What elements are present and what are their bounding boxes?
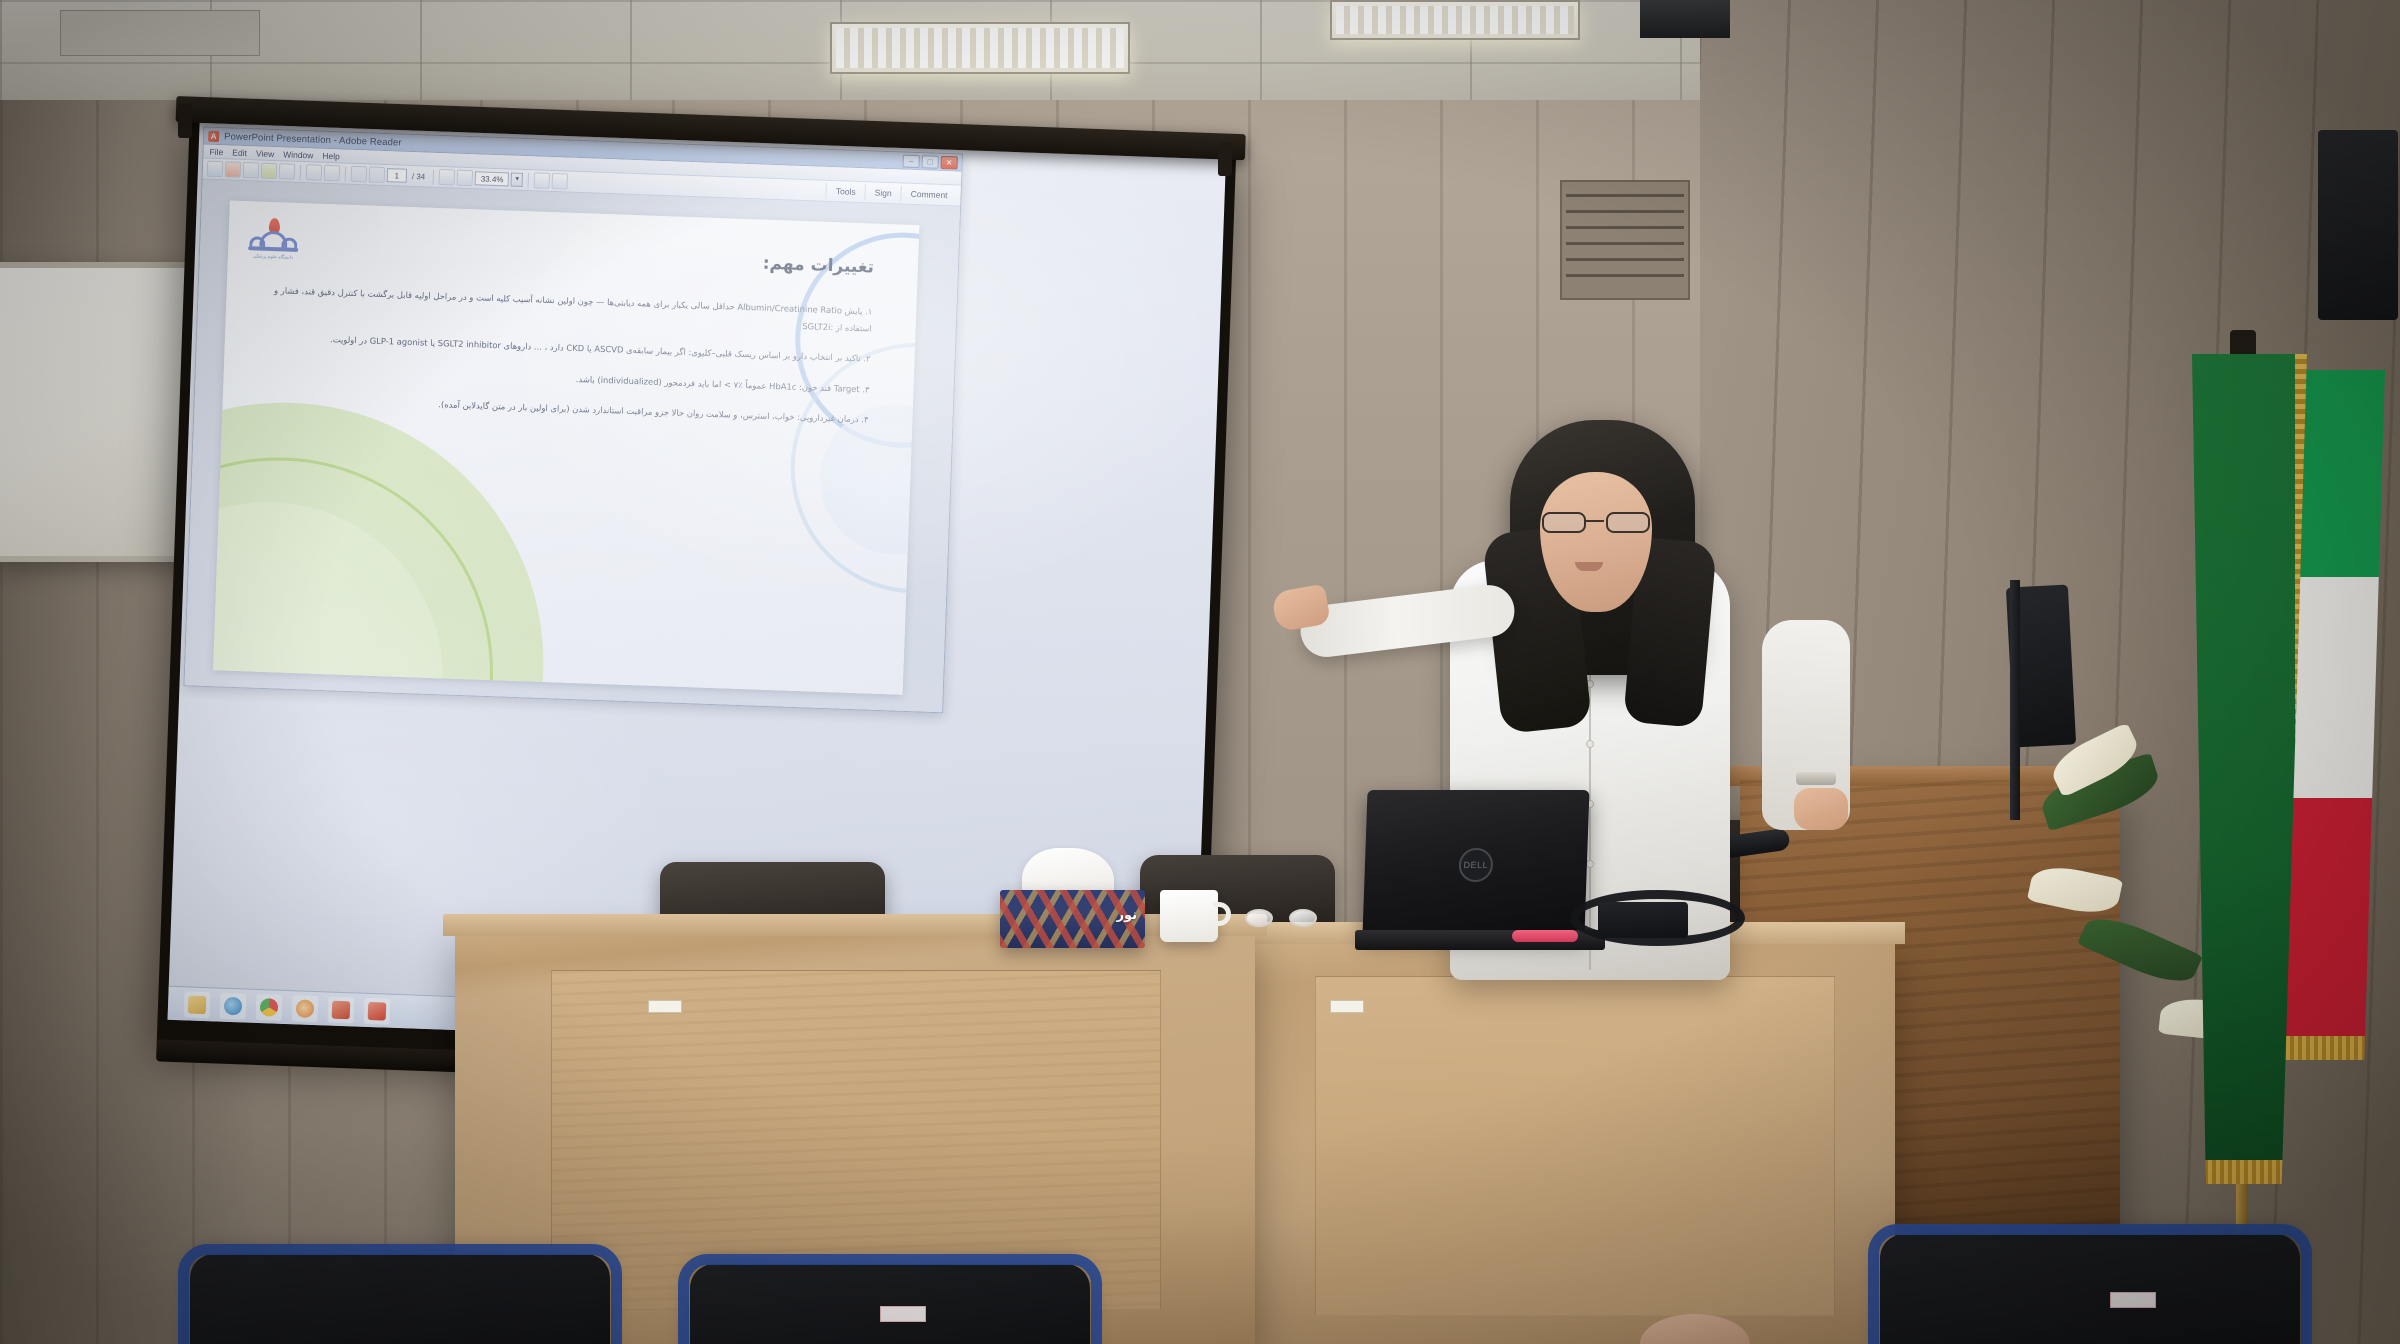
menu-item-file[interactable]: File — [209, 146, 223, 156]
tissue-brand-label: نور — [1116, 908, 1137, 923]
menu-item-window[interactable]: Window — [283, 149, 314, 160]
dell-logo: DELL — [1458, 848, 1493, 882]
ceiling-light-2 — [1330, 0, 1580, 40]
menu-item-edit[interactable]: Edit — [232, 147, 247, 158]
zoom-level-input[interactable]: 33.4% — [475, 171, 509, 186]
media-player-icon[interactable] — [292, 995, 319, 1022]
whiteboard — [0, 262, 205, 562]
laptop-lid: DELL — [1362, 790, 1589, 935]
audience-chair-center — [690, 1264, 1090, 1344]
slide-point-1: ۱. پایش Albumin/Creatinine Ratio حداقل س… — [270, 282, 873, 338]
lily-flower — [2027, 861, 2123, 919]
adobe-reader-window[interactable]: PowerPoint Presentation - Adobe Reader –… — [183, 126, 963, 713]
sign-button[interactable]: Sign — [864, 184, 901, 201]
google-chrome-icon[interactable] — [256, 993, 283, 1020]
chevron-down-icon[interactable]: ▾ — [511, 173, 523, 187]
presenter-eyeglasses — [1542, 512, 1650, 534]
page-view-icon[interactable] — [324, 165, 341, 182]
flag-group — [2130, 330, 2400, 1230]
adobe-reader-icon-taskbar[interactable] — [364, 997, 391, 1024]
window-controls[interactable]: – □ ✕ — [902, 154, 957, 169]
conference-room-scene: PowerPoint Presentation - Adobe Reader –… — [0, 0, 2400, 1344]
slide-title: تغییرات مهم: — [272, 236, 874, 278]
maximize-button[interactable]: □ — [921, 155, 938, 169]
minimize-button[interactable]: – — [902, 154, 919, 168]
file-explorer-icon[interactable] — [184, 991, 211, 1018]
toolbar-right-group[interactable]: Tools Sign Comment — [826, 183, 957, 204]
presenter-wristwatch — [1796, 772, 1836, 785]
previous-page-icon[interactable] — [351, 166, 368, 183]
front-desk-label — [648, 1000, 682, 1013]
internet-explorer-icon[interactable] — [220, 992, 247, 1019]
presenter-right-hand — [1794, 788, 1848, 830]
page-total-label: / 34 — [409, 171, 429, 181]
open-file-icon[interactable] — [207, 161, 224, 178]
ceiling-light-1 — [830, 22, 1130, 74]
zoom-in-icon[interactable] — [457, 170, 474, 187]
zoom-out-icon[interactable] — [439, 169, 456, 186]
comment-button[interactable]: Comment — [900, 185, 956, 203]
adobe-reader-icon — [208, 130, 219, 141]
menu-item-help[interactable]: Help — [322, 150, 340, 161]
fit-page-icon[interactable] — [534, 172, 551, 189]
undo-icon[interactable] — [279, 163, 296, 180]
wall-vent — [1560, 180, 1690, 300]
audience-chair-tag-left — [880, 1306, 926, 1322]
email-icon[interactable] — [261, 163, 278, 180]
red-desk-item — [1512, 930, 1578, 942]
audience-chair-left — [190, 1254, 610, 1344]
dell-laptop[interactable]: DELL — [1355, 790, 1605, 950]
close-button[interactable]: ✕ — [940, 155, 957, 169]
tissue-box: نور — [1000, 890, 1145, 948]
wall-speaker — [2318, 130, 2398, 320]
next-page-icon[interactable] — [369, 166, 386, 183]
eyeglasses-on-desk — [1245, 905, 1317, 933]
screen-bracket-right — [1218, 142, 1232, 176]
create-pdf-icon[interactable] — [225, 161, 242, 178]
tools-button[interactable]: Tools — [826, 183, 865, 200]
audience-chair-tag-right — [2110, 1292, 2156, 1308]
document-area[interactable]: دانشگاه علوم پزشکی تغییرات مهم: ۱. پایش … — [184, 179, 960, 712]
ceiling-panel-1 — [60, 10, 260, 56]
power-adapter — [1598, 902, 1688, 938]
print-icon[interactable] — [306, 164, 323, 181]
powerpoint-icon[interactable] — [328, 996, 355, 1023]
menu-item-view[interactable]: View — [256, 148, 275, 159]
presentation-slide: دانشگاه علوم پزشکی تغییرات مهم: ۱. پایش … — [213, 200, 919, 694]
audience-chair-right — [1880, 1234, 2300, 1344]
right-desk-label — [1330, 1000, 1364, 1013]
coffee-mug — [1160, 890, 1218, 942]
screen-bracket-left — [178, 104, 192, 138]
fit-width-icon[interactable] — [552, 173, 569, 190]
save-icon[interactable] — [243, 162, 260, 179]
projector-mount — [1640, 0, 1730, 38]
podium-mic-stand — [2010, 580, 2020, 820]
page-number-input[interactable]: 1 — [387, 168, 407, 183]
slide-content: تغییرات مهم: ۱. پایش Albumin/Creatinine … — [223, 200, 920, 430]
